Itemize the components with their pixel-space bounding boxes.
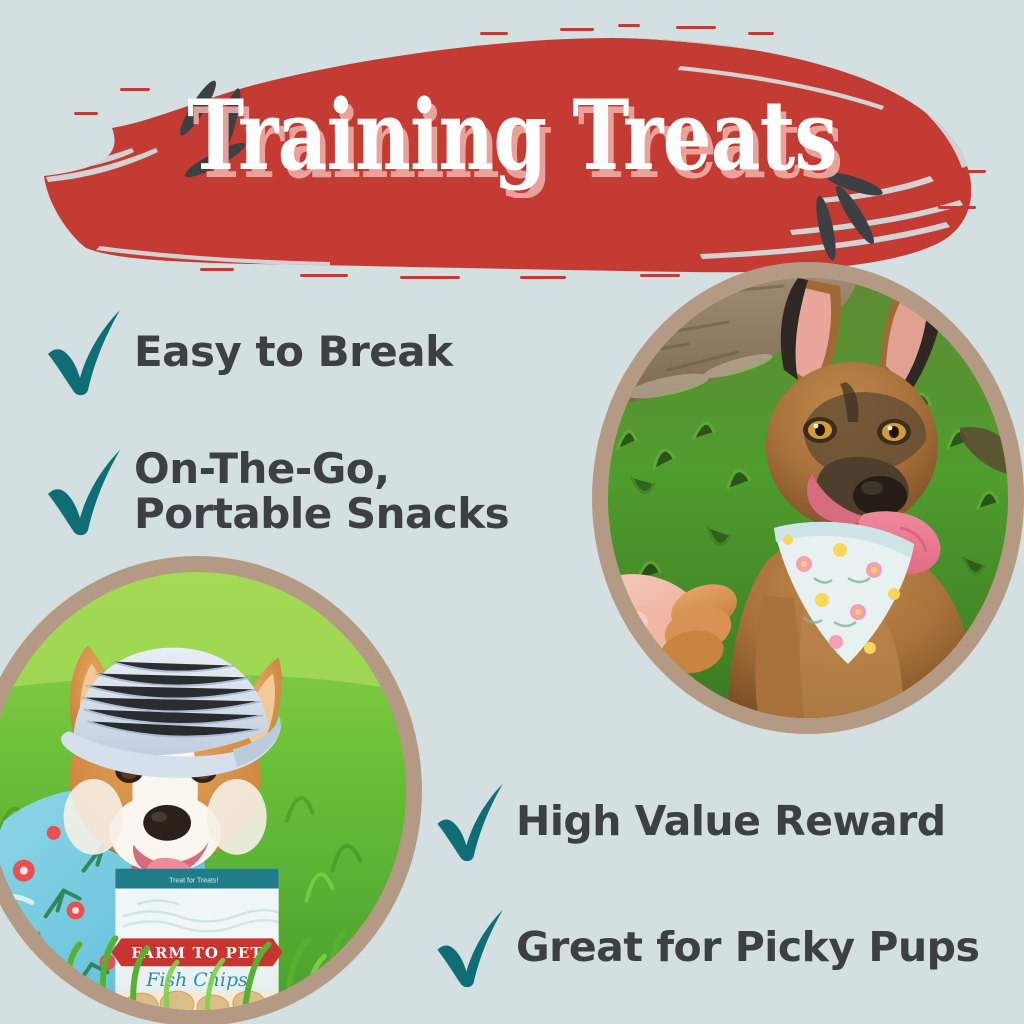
check-icon <box>42 446 128 538</box>
feature-list-top: Easy to Break On-The-Go, Portable Snacks <box>42 306 602 556</box>
bag-top-tag: Treat for Treats! <box>169 878 218 885</box>
bag-flavor: Fish Chips <box>145 969 248 991</box>
photo-dog-shepherd <box>592 262 1024 734</box>
feature-item-easy-to-break: Easy to Break <box>42 306 602 398</box>
feature-label: High Value Reward <box>516 800 946 843</box>
check-icon <box>42 306 128 398</box>
feature-label: Easy to Break <box>134 330 453 375</box>
photo-dog-corgi: Treat for Treats! FARM TO PET Fish Chips <box>0 556 422 1024</box>
feature-item-on-the-go: On-The-Go, Portable Snacks <box>42 446 602 538</box>
feature-label: On-The-Go, Portable Snacks <box>134 447 509 536</box>
check-icon <box>432 906 510 990</box>
headline-banner: Training Treats <box>0 0 1024 280</box>
feature-item-high-value-reward: High Value Reward <box>432 780 1024 864</box>
product-bag: Treat for Treats! FARM TO PET Fish Chips <box>111 869 282 1010</box>
poster-canvas: Training Treats <box>0 0 1024 1024</box>
photo-dog-shepherd-image <box>608 278 1008 718</box>
check-icon <box>432 780 510 864</box>
feature-item-great-for-picky-pups: Great for Picky Pups <box>432 906 1024 990</box>
feature-label: Great for Picky Pups <box>516 926 979 969</box>
photo-dog-corgi-image: Treat for Treats! FARM TO PET Fish Chips <box>0 572 406 1010</box>
bag-brand: FARM TO PET <box>131 944 263 962</box>
feature-list-bottom: High Value Reward Great for Picky Pups <box>432 780 1024 1024</box>
page-title: Training Treats <box>102 88 921 184</box>
